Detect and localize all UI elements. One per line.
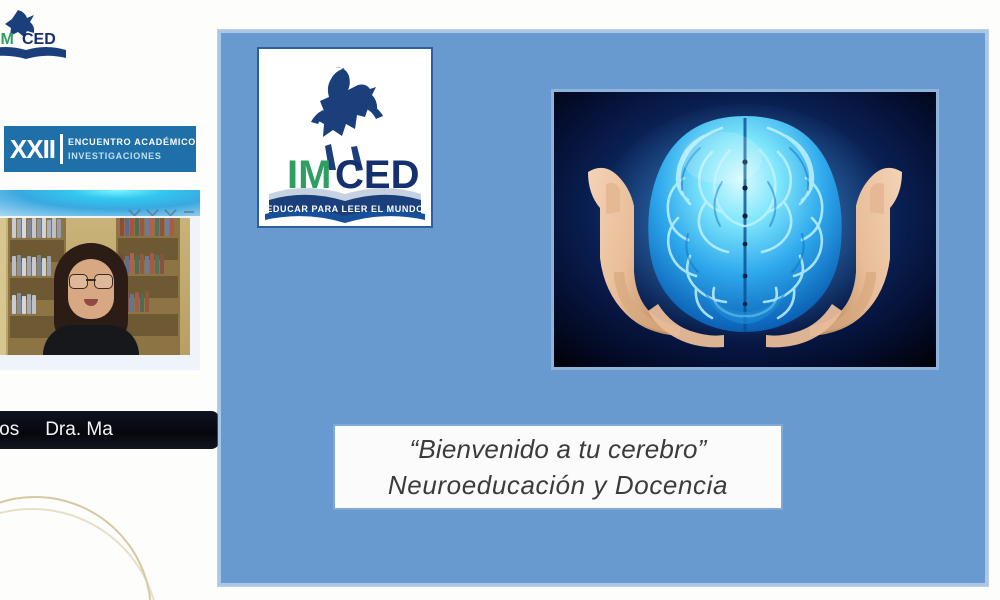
video-window-footer	[0, 356, 200, 370]
imced-logo-small-icon: IM CED	[0, 4, 70, 64]
webcam-video-feed[interactable]	[0, 218, 190, 355]
caption-line-1: “Bienvenido a tu cerebro”	[410, 432, 707, 466]
name-bar-right-text: Dra. Ma	[45, 419, 113, 441]
brain-illustration	[554, 92, 936, 367]
name-bar-left-text: ados	[0, 419, 19, 441]
banner-main: XXII ENCUENTRO ACADÉMICO INVESTIGACIONES	[2, 124, 198, 174]
video-window[interactable]	[0, 190, 200, 370]
imced-logo-icon: IM CED EDUCAR PARA LEER EL MUNDO	[261, 52, 429, 224]
banner-line-2: INVESTIGACIONES	[68, 149, 196, 163]
banner-divider	[60, 134, 63, 164]
presentation-slide: IM CED EDUCAR PARA LEER EL MUNDO	[218, 30, 988, 586]
brain-body	[648, 116, 841, 332]
brain-in-hands-photo	[551, 89, 939, 370]
banner-roman-numeral: XXII	[10, 136, 55, 162]
event-banner: AL: SO XXII ENCUENTRO ACADÉMICO INVESTIG…	[0, 124, 198, 174]
presenter-name-bar: ados Dra. Ma	[0, 411, 220, 449]
presenter-glasses	[69, 274, 113, 287]
left-panel: IM CED AL: SO XXII ENCUENTRO ACADÉMICO I…	[0, 0, 216, 600]
slide-caption-box: “Bienvenido a tu cerebro” Neuroeducación…	[333, 424, 783, 510]
presenter-avatar	[43, 243, 139, 355]
wall-left-strip	[0, 218, 6, 355]
caption-line-2: Neuroeducación y Docencia	[388, 468, 728, 502]
screen-root: IM CED AL: SO XXII ENCUENTRO ACADÉMICO I…	[0, 0, 1000, 600]
svg-text:IM: IM	[0, 31, 14, 48]
svg-text:CED: CED	[22, 31, 56, 48]
presenter-face	[68, 259, 114, 319]
title-bar-glyphs	[130, 206, 194, 215]
imced-logo-card: IM CED EDUCAR PARA LEER EL MUNDO	[257, 47, 433, 228]
logo-tagline: EDUCAR PARA LEER EL MUNDO	[266, 204, 423, 214]
video-title-bar[interactable]	[0, 190, 200, 216]
presenter-torso	[43, 325, 139, 355]
banner-line-1: ENCUENTRO ACADÉMICO	[68, 135, 196, 149]
